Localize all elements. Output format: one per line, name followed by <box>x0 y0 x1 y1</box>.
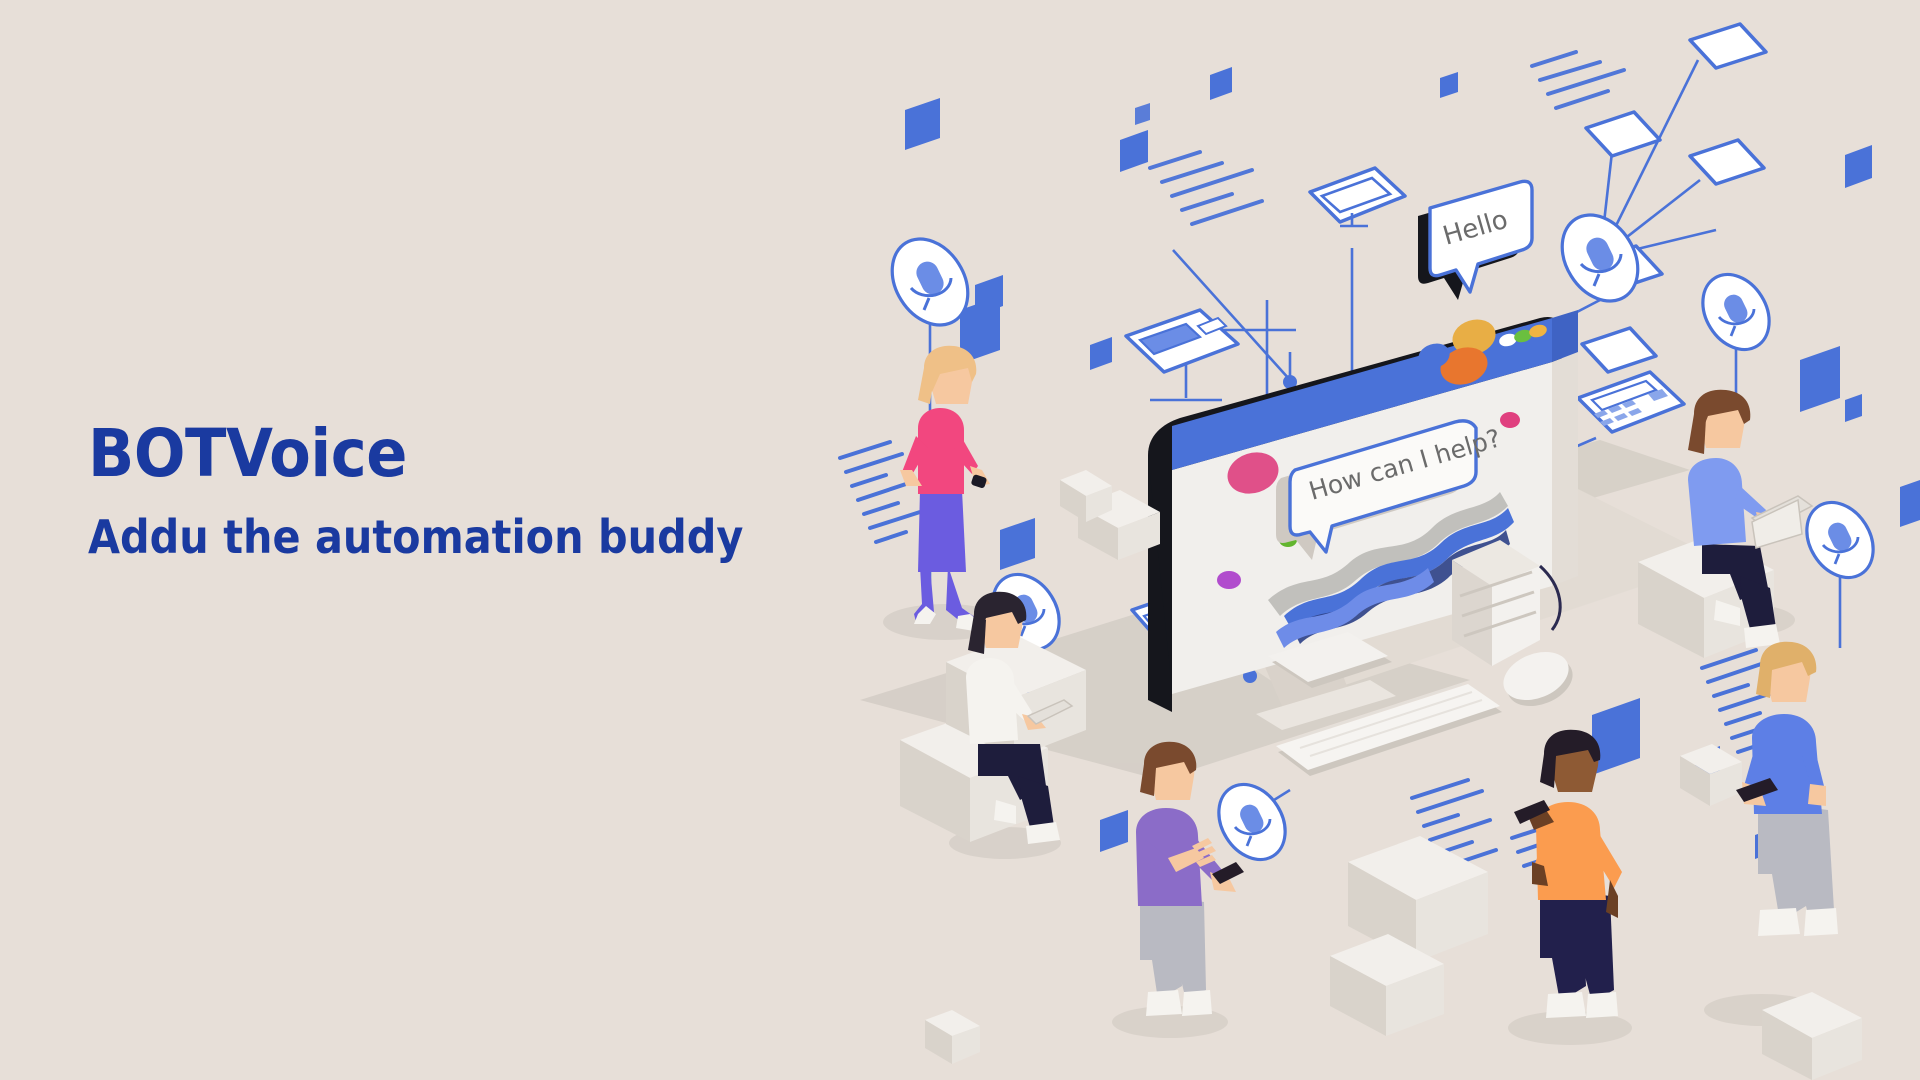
page-subtitle: Addu the automation buddy <box>88 513 808 561</box>
illustration-stage: How can I help? Hello <box>0 0 1920 1080</box>
page-title: BOTVoice <box>88 420 824 487</box>
headline-block: BOTVoice Addu the automation buddy <box>88 420 888 562</box>
